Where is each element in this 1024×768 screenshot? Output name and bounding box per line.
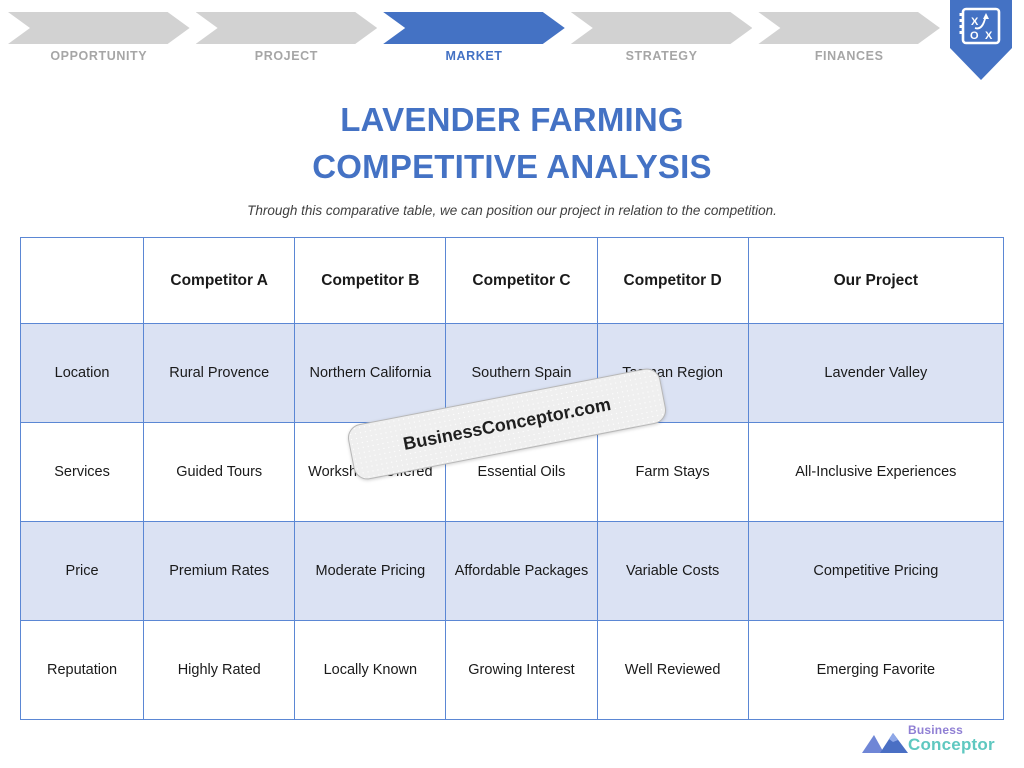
- step-label-strategy[interactable]: STRATEGY: [571, 45, 753, 67]
- cell-location-competitor-b: Northern California: [295, 324, 446, 423]
- step-chevron-track: [8, 12, 940, 44]
- cell-services-competitor-a: Guided Tours: [144, 423, 295, 522]
- cell-price-competitor-a: Premium Rates: [144, 522, 295, 621]
- step-chevron-project[interactable]: [196, 12, 378, 44]
- cell-reputation-our-project: Emerging Favorite: [748, 621, 1003, 720]
- strategy-playbook-icon: X O X: [950, 0, 1012, 80]
- cell-location-competitor-a: Rural Provence: [144, 324, 295, 423]
- cell-price-our-project: Competitive Pricing: [748, 522, 1003, 621]
- column-header-our-project: Our Project: [748, 238, 1003, 324]
- cell-price-competitor-c: Affordable Packages: [446, 522, 597, 621]
- row-label-reputation: Reputation: [21, 621, 144, 720]
- page-title-line1: LAVENDER FARMING: [0, 97, 1024, 144]
- cell-reputation-competitor-d: Well Reviewed: [597, 621, 748, 720]
- cell-services-our-project: All-Inclusive Experiences: [748, 423, 1003, 522]
- step-chevron-finances[interactable]: [758, 12, 940, 44]
- step-label-finances[interactable]: FINANCES: [758, 45, 940, 67]
- step-label-opportunity[interactable]: OPPORTUNITY: [8, 45, 190, 67]
- cell-location-our-project: Lavender Valley: [748, 324, 1003, 423]
- column-header-competitor-b: Competitor B: [295, 238, 446, 324]
- page-title-line2: COMPETITIVE ANALYSIS: [0, 144, 1024, 191]
- table-row: Reputation Highly Rated Locally Known Gr…: [21, 621, 1004, 720]
- brand-line-conceptor: Conceptor: [908, 736, 995, 753]
- svg-text:X: X: [985, 30, 993, 42]
- page-title: LAVENDER FARMING COMPETITIVE ANALYSIS: [0, 97, 1024, 191]
- row-label-price: Price: [21, 522, 144, 621]
- cell-reputation-competitor-c: Growing Interest: [446, 621, 597, 720]
- brand-logo: Business Conceptor: [860, 722, 1008, 758]
- cell-reputation-competitor-b: Locally Known: [295, 621, 446, 720]
- step-chevron-market[interactable]: [383, 12, 565, 44]
- column-header-competitor-c: Competitor C: [446, 238, 597, 324]
- mountain-logo-icon: [860, 727, 912, 755]
- step-label-market[interactable]: MARKET: [383, 45, 565, 67]
- step-chevron-strategy[interactable]: [571, 12, 753, 44]
- step-label-project[interactable]: PROJECT: [196, 45, 378, 67]
- cell-price-competitor-b: Moderate Pricing: [295, 522, 446, 621]
- slide-canvas: OPPORTUNITY PROJECT MARKET STRATEGY FINA…: [0, 0, 1024, 768]
- title-block: LAVENDER FARMING COMPETITIVE ANALYSIS Th…: [0, 97, 1024, 218]
- column-header-competitor-a: Competitor A: [144, 238, 295, 324]
- comparison-table-container: Competitor A Competitor B Competitor C C…: [20, 237, 1004, 719]
- svg-text:X: X: [971, 16, 979, 28]
- comparison-table: Competitor A Competitor B Competitor C C…: [20, 237, 1004, 720]
- cell-price-competitor-d: Variable Costs: [597, 522, 748, 621]
- row-label-location: Location: [21, 324, 144, 423]
- cell-reputation-competitor-a: Highly Rated: [144, 621, 295, 720]
- table-header-row: Competitor A Competitor B Competitor C C…: [21, 238, 1004, 324]
- table-row: Price Premium Rates Moderate Pricing Aff…: [21, 522, 1004, 621]
- step-label-track: OPPORTUNITY PROJECT MARKET STRATEGY FINA…: [8, 45, 940, 67]
- step-navigation-bar: OPPORTUNITY PROJECT MARKET STRATEGY FINA…: [0, 0, 1024, 78]
- row-label-services: Services: [21, 423, 144, 522]
- step-chevron-opportunity[interactable]: [8, 12, 190, 44]
- cell-services-competitor-d: Farm Stays: [597, 423, 748, 522]
- column-header-competitor-d: Competitor D: [597, 238, 748, 324]
- page-subtitle: Through this comparative table, we can p…: [0, 203, 1024, 218]
- table-corner-cell: [21, 238, 144, 324]
- svg-text:O: O: [970, 30, 979, 42]
